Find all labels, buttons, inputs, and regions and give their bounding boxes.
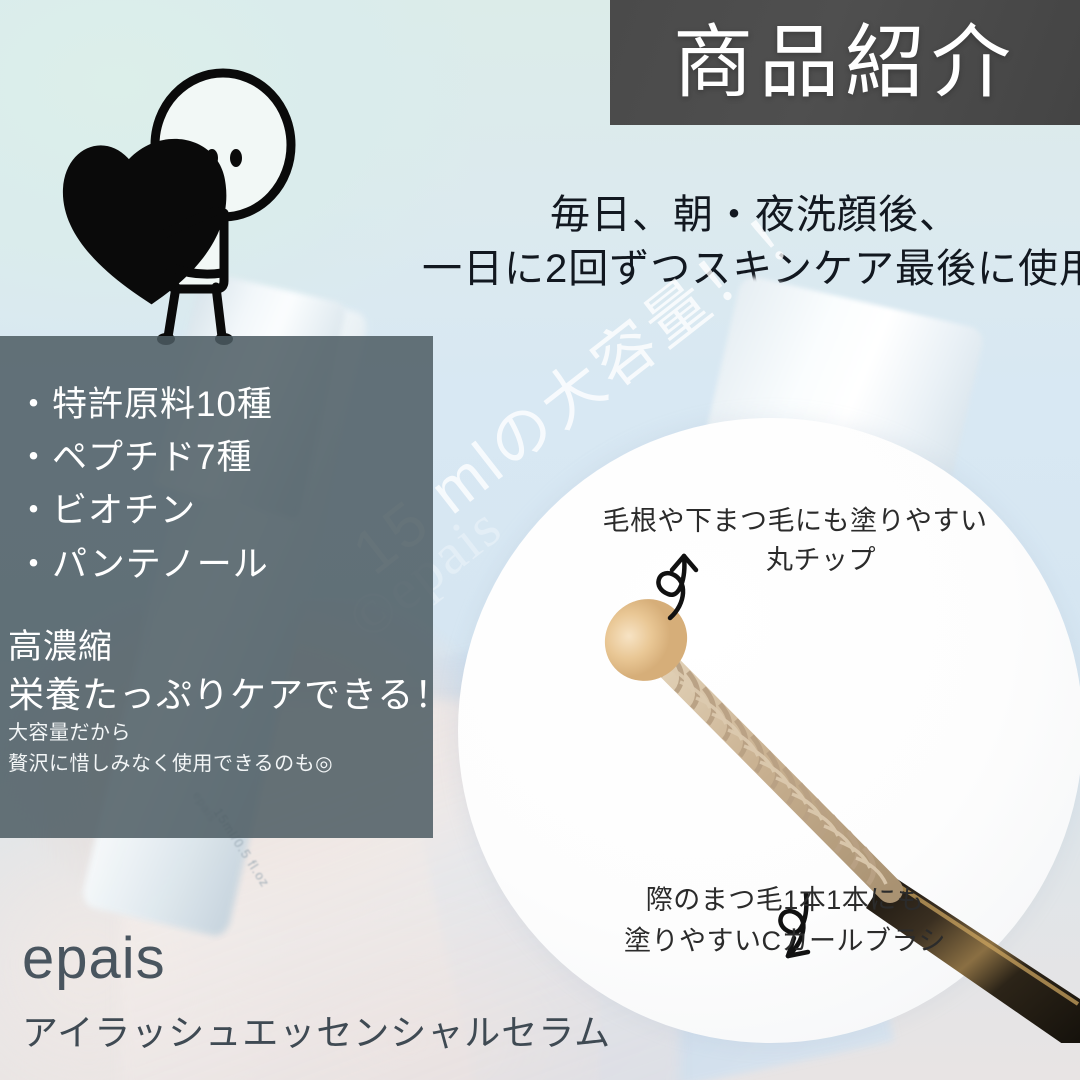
annotation-round-tip-line1: 毛根や下まつ毛にも塗りやすい (603, 506, 988, 536)
header-banner: 商品紹介 (610, 0, 1080, 125)
brand-name: epais (22, 930, 611, 988)
annotation-c-curl-brush-line2: 塗りやすいCカールブラシ (624, 926, 946, 956)
panel-highlight-nutrition: 栄養たっぷりケアできる！ (8, 666, 451, 718)
panel-subtext-line2: 贅沢に惜しみなく使用できるのも◎ (8, 749, 333, 780)
heart-hug-doodle-icon (20, 45, 320, 345)
ingredients-panel: ・特許原料10種 ・ペプチド7種 ・ビオチン ・パンテノール 高濃縮 栄養たっぷ… (0, 336, 433, 838)
panel-highlight-concentration: 高濃縮 (8, 619, 113, 668)
annotation-c-curl-brush: 際のまつ毛1本1本にも 塗りやすいCカールブラシ (555, 880, 1015, 961)
list-item: ・ビオチン (16, 484, 273, 537)
usage-headline-line1: 毎日、朝・夜洗顔後、 (550, 193, 960, 237)
list-item: ・ペプチド7種 (16, 431, 273, 484)
poster-canvas: 15ml/0.5 fl.oz epais 商品紹介 毎 (0, 0, 1080, 1080)
panel-subtext: 大容量だから 贅沢に惜しみなく使用できるのも◎ (8, 718, 333, 780)
annotation-round-tip-line2: 丸チップ (612, 541, 1030, 580)
panel-subtext-line1: 大容量だから (8, 718, 333, 749)
list-item: ・特許原料10種 (16, 378, 273, 431)
annotation-c-curl-brush-line1: 際のまつ毛1本1本にも (646, 885, 925, 915)
annotation-round-tip: 毛根や下まつ毛にも塗りやすい 丸チップ (560, 502, 1030, 580)
list-item: ・パンテノール (16, 538, 273, 591)
ingredients-list: ・特許原料10種 ・ペプチド7種 ・ビオチン ・パンテノール (16, 378, 273, 591)
brand-subtitle: アイラッシュエッセンシャルセラム (22, 1004, 611, 1056)
page-title: 商品紹介 (673, 23, 1017, 103)
brand-block: epais アイラッシュエッセンシャルセラム (22, 930, 611, 1056)
